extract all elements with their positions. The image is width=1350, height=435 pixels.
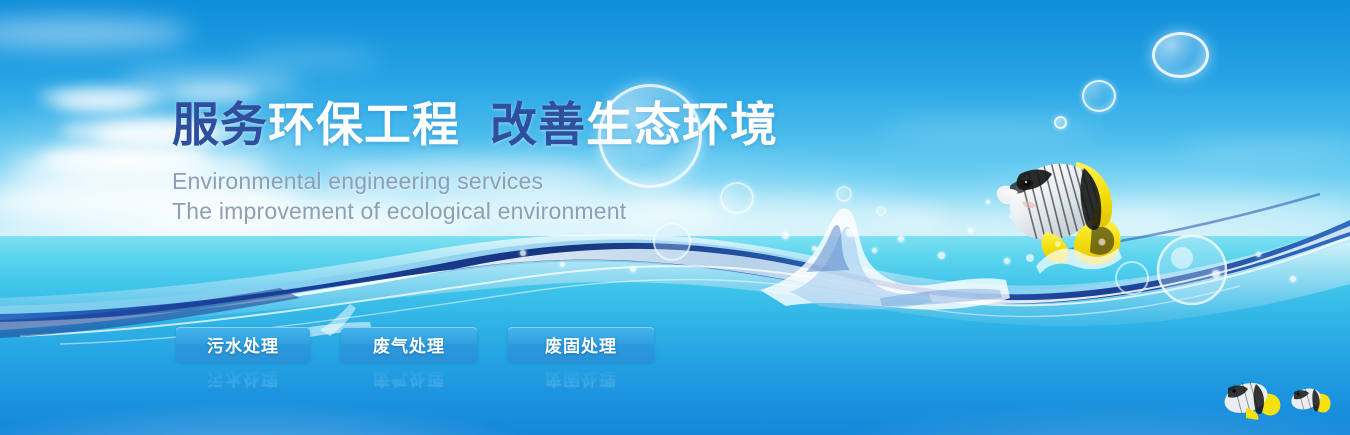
water-droplet-icon bbox=[1256, 252, 1261, 257]
bubble-icon bbox=[1054, 116, 1067, 129]
fish-splash-icon bbox=[1010, 236, 1140, 286]
service-button-group: 污水处理 废气处理 废固处理 bbox=[176, 327, 654, 362]
solid-waste-treatment-button[interactable]: 废固处理 bbox=[508, 327, 654, 362]
bubble-icon bbox=[876, 206, 886, 216]
headline-part-1: 服务 bbox=[172, 98, 268, 151]
headline-bubble-icon bbox=[598, 84, 702, 188]
water-droplet-icon bbox=[898, 236, 904, 242]
butterflyfish-icon-small-2 bbox=[1286, 382, 1334, 416]
headline-part-3: 改善 bbox=[490, 98, 586, 151]
water-droplet-icon bbox=[968, 228, 973, 233]
water-droplet-icon bbox=[1212, 270, 1220, 278]
subtitle-line-2: The improvement of ecological environmen… bbox=[172, 196, 778, 226]
bubble-icon bbox=[1082, 80, 1116, 112]
water-droplet-icon bbox=[1290, 276, 1296, 282]
water-droplet-icon bbox=[560, 262, 565, 267]
water-droplet-icon bbox=[938, 252, 945, 259]
bubble-icon bbox=[836, 186, 852, 202]
hero-banner: 服务环保工程改善生态环境 Environmental engineering s… bbox=[0, 0, 1350, 435]
waste-gas-treatment-button[interactable]: 废气处理 bbox=[341, 327, 477, 362]
water-droplet-icon bbox=[520, 250, 526, 256]
water-droplet-icon bbox=[630, 266, 636, 272]
wave-bubble-left-icon bbox=[654, 224, 690, 260]
water-droplet-icon bbox=[846, 228, 855, 237]
wastewater-treatment-button[interactable]: 污水处理 bbox=[176, 327, 310, 362]
butterflyfish-icon-small-1 bbox=[1216, 374, 1286, 420]
headline-part-2: 环保工程 bbox=[268, 98, 460, 151]
water-droplet-icon bbox=[872, 248, 877, 253]
water-droplet-icon bbox=[812, 246, 817, 251]
bubble-icon bbox=[1152, 32, 1209, 78]
water-droplet-icon bbox=[782, 232, 789, 239]
